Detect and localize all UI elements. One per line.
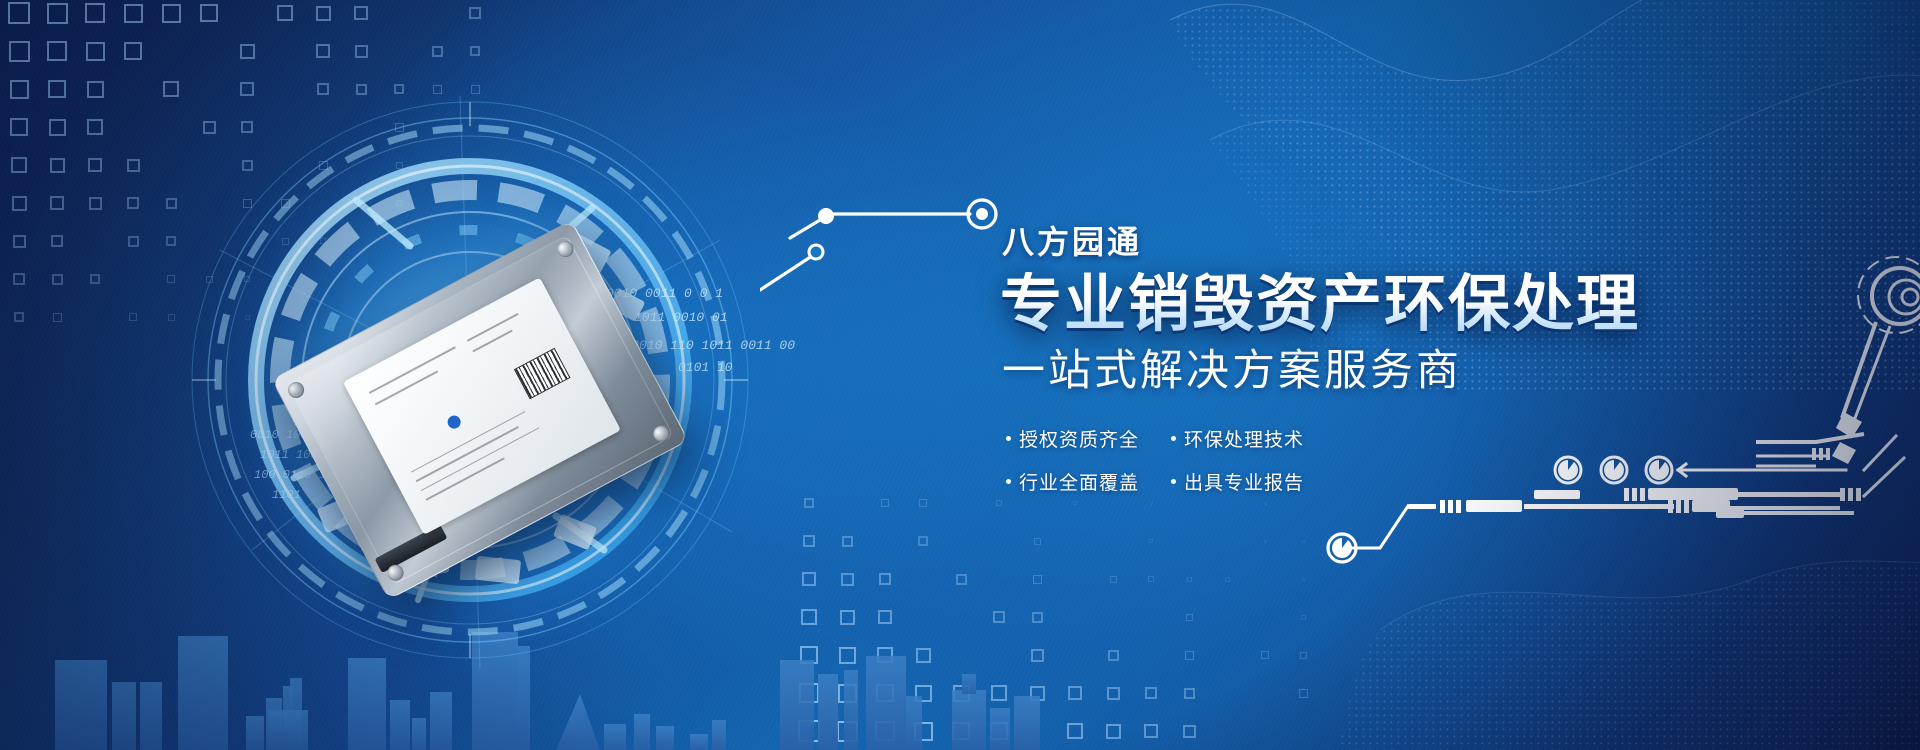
grid-square — [398, 278, 401, 281]
grid-square — [1150, 502, 1153, 505]
grid-square — [1106, 724, 1121, 739]
circuit-emblem-right-icon — [1756, 250, 1920, 490]
grid-square — [87, 81, 104, 98]
feature-label: 行业全面覆盖 — [1019, 468, 1139, 495]
brand-name: 八方园通 — [1002, 226, 1720, 258]
grid-square — [127, 197, 139, 209]
grid-square — [14, 312, 24, 322]
grid-square — [881, 499, 889, 507]
binary-digits-icon: 0010 0011 0 0 1 1011 0010 01 011 0010 11… — [600, 275, 830, 395]
bullet-dot-icon — [1171, 436, 1176, 441]
grid-square — [206, 276, 213, 283]
grid-square — [1108, 650, 1119, 661]
grid-square — [993, 611, 1005, 623]
feature-label: 出具专业报告 — [1184, 468, 1304, 495]
grid-square — [129, 313, 137, 321]
grid-square — [991, 685, 1007, 701]
subheadline: 一站式解决方案服务商 — [1002, 348, 1720, 395]
grid-square — [1145, 687, 1157, 699]
svg-text:1011 1001 0: 1011 1001 0 — [260, 448, 339, 462]
grid-square — [841, 573, 854, 586]
grid-square — [88, 158, 102, 172]
grid-square — [800, 646, 818, 664]
grid-square — [281, 199, 290, 208]
grid-square — [166, 236, 176, 246]
grid-square — [990, 722, 1008, 740]
bullet-dot-icon — [1171, 479, 1176, 484]
grid-square — [798, 720, 820, 742]
grid-square — [244, 276, 250, 282]
grid-square — [317, 83, 329, 95]
grid-square — [1302, 578, 1305, 581]
bullet-dot-icon — [1006, 479, 1011, 484]
grid-square — [1264, 540, 1267, 543]
hero-banner: 0010 0011 0 0 1 1011 0010 01 011 0010 11… — [0, 0, 1920, 750]
grid-square — [127, 159, 140, 172]
grid-square — [1073, 501, 1077, 505]
grid-square — [1110, 576, 1117, 583]
grid-square — [432, 46, 443, 57]
grid-square — [879, 573, 891, 585]
grid-square — [354, 6, 368, 20]
grid-square — [469, 7, 481, 19]
grid-square — [13, 235, 26, 248]
grid-square — [1299, 689, 1308, 698]
grid-square — [168, 314, 175, 321]
grid-square — [128, 236, 139, 247]
grid-square — [1144, 724, 1158, 738]
hard-disk-drive-image — [271, 220, 689, 600]
grid-square — [12, 196, 27, 211]
grid-square — [203, 121, 216, 134]
grid-square — [245, 315, 250, 320]
grid-square — [90, 274, 100, 284]
svg-text:011 0010 110 1011 0011 00: 011 0010 110 1011 0011 00 — [600, 338, 795, 353]
grid-square — [1068, 686, 1082, 700]
grid-square — [49, 119, 66, 136]
grid-square — [87, 119, 103, 135]
grid-square — [10, 80, 29, 99]
grid-square — [277, 5, 293, 21]
grid-square — [956, 574, 967, 585]
wireframe-mesh-bottom-icon — [1320, 490, 1920, 750]
grid-square — [842, 536, 853, 547]
grid-square — [53, 313, 62, 322]
grid-square — [282, 276, 288, 282]
grid-square — [914, 722, 933, 741]
grid-square — [1225, 577, 1230, 582]
grid-square — [1301, 615, 1306, 620]
headline: 专业销毁资产环保处理 — [1000, 272, 1720, 338]
grid-square — [1033, 575, 1042, 584]
grid-square — [316, 44, 330, 58]
grid-square — [162, 4, 181, 23]
grid-square — [837, 721, 858, 742]
grid-square — [838, 684, 857, 703]
grid-square — [243, 199, 252, 208]
grid-square — [875, 721, 895, 741]
grid-square — [1067, 723, 1083, 739]
grid-square — [319, 161, 328, 170]
grid-square — [124, 4, 143, 23]
grid-square — [48, 80, 66, 98]
grid-square — [1032, 612, 1043, 623]
grid-square — [85, 3, 105, 23]
grid-square — [167, 275, 175, 283]
grid-square — [395, 123, 404, 132]
grid-square — [1184, 688, 1195, 699]
grid-square — [356, 84, 367, 95]
grid-square — [916, 648, 931, 663]
grid-square — [840, 610, 855, 625]
grid-square — [166, 198, 177, 209]
grid-square — [242, 160, 253, 171]
grid-square — [996, 500, 1002, 506]
feature-item: 行业全面覆盖 — [1006, 468, 1171, 495]
grid-square — [470, 46, 480, 56]
grid-square — [471, 85, 480, 94]
grid-square — [13, 273, 25, 285]
grid-square — [878, 610, 892, 624]
bullet-dot-icon — [1006, 436, 1011, 441]
hdd-label — [343, 277, 621, 535]
hero-text-block: 八方园通 专业销毁资产环保处理 一站式解决方案服务商 授权资质齐全 环保处理技术… — [1000, 226, 1720, 495]
grid-square — [915, 685, 932, 702]
grid-square — [1302, 540, 1305, 543]
grid-square — [355, 45, 368, 58]
svg-text:0010 1001 100: 0010 1001 100 — [250, 428, 344, 442]
grid-square — [1148, 576, 1154, 582]
grid-square — [320, 238, 326, 244]
feature-item: 授权资质齐全 — [1006, 425, 1171, 452]
feature-item: 环保处理技术 — [1171, 425, 1336, 452]
grid-square — [919, 499, 927, 507]
grid-square — [1183, 725, 1196, 738]
grid-square — [397, 239, 401, 243]
grid-square — [396, 200, 402, 206]
grid-square — [52, 274, 63, 285]
grid-square — [804, 498, 814, 508]
grid-square — [918, 536, 928, 546]
grid-square — [240, 44, 255, 59]
grid-square — [1034, 538, 1041, 545]
feature-list: 授权资质齐全 环保处理技术 行业全面覆盖 出具专业报告 — [1006, 425, 1336, 495]
grid-square — [200, 4, 218, 22]
grid-square — [953, 685, 970, 702]
grid-square — [877, 647, 893, 663]
grid-square — [839, 647, 856, 664]
grid-square — [952, 722, 970, 740]
feature-label: 授权资质齐全 — [1019, 425, 1139, 452]
grid-square — [398, 316, 401, 319]
grid-square — [801, 609, 817, 625]
feature-item: 出具专业报告 — [1171, 468, 1336, 495]
grid-square — [1261, 651, 1269, 659]
grid-square — [10, 118, 28, 136]
grid-square — [433, 85, 442, 94]
grid-square — [282, 238, 289, 245]
grid-square — [1185, 651, 1194, 660]
hdd-connector — [375, 524, 448, 573]
grid-square — [802, 572, 816, 586]
grid-square — [803, 535, 815, 547]
svg-text:0010 0011 0 0 1: 0010 0011 0 0 1 — [606, 286, 723, 301]
tech-ring-hud-icon — [160, 80, 780, 680]
grid-square — [1107, 687, 1120, 700]
svg-text:100 0110 11: 100 0110 11 — [254, 468, 333, 482]
grid-square — [359, 277, 363, 281]
grid-square — [316, 6, 331, 21]
grid-square — [1186, 614, 1193, 621]
grid-square — [163, 81, 179, 97]
svg-text:0101 10: 0101 10 — [678, 360, 733, 375]
grid-square — [358, 200, 365, 207]
circuit-trace-left-icon — [760, 180, 1020, 310]
grid-square — [1264, 502, 1267, 505]
grid-square — [50, 196, 64, 210]
grid-square — [89, 197, 102, 210]
feature-label: 环保处理技术 — [1184, 425, 1304, 452]
grid-square — [1030, 686, 1045, 701]
square-grid-bottom-middle — [790, 484, 1322, 750]
svg-text:1011 0010 01: 1011 0010 01 — [634, 310, 728, 325]
binary-digits-left-icon: 0010 1001 100 1011 1001 0 100 0110 11 11… — [250, 420, 450, 510]
grid-square — [11, 157, 27, 173]
grid-square — [876, 684, 894, 702]
grid-square — [47, 41, 67, 61]
grid-square — [47, 3, 68, 24]
grid-square — [50, 158, 65, 173]
grid-square — [1187, 577, 1192, 582]
grid-square — [240, 82, 254, 96]
grid-square — [51, 235, 63, 247]
grid-square — [799, 683, 819, 703]
grid-square — [86, 42, 105, 61]
grid-square — [9, 41, 30, 62]
grid-square — [396, 162, 403, 169]
grid-square — [241, 121, 253, 133]
grid-square — [1031, 649, 1044, 662]
square-grid-top-left — [0, 0, 494, 336]
grid-square — [1149, 539, 1153, 543]
grid-square — [124, 42, 142, 60]
svg-text:1101: 1101 — [272, 488, 301, 502]
grid-square — [394, 84, 404, 94]
city-skyline-icon — [0, 600, 1060, 750]
grid-square — [1300, 652, 1307, 659]
hdd-glow — [245, 175, 715, 645]
grid-square — [8, 2, 30, 24]
